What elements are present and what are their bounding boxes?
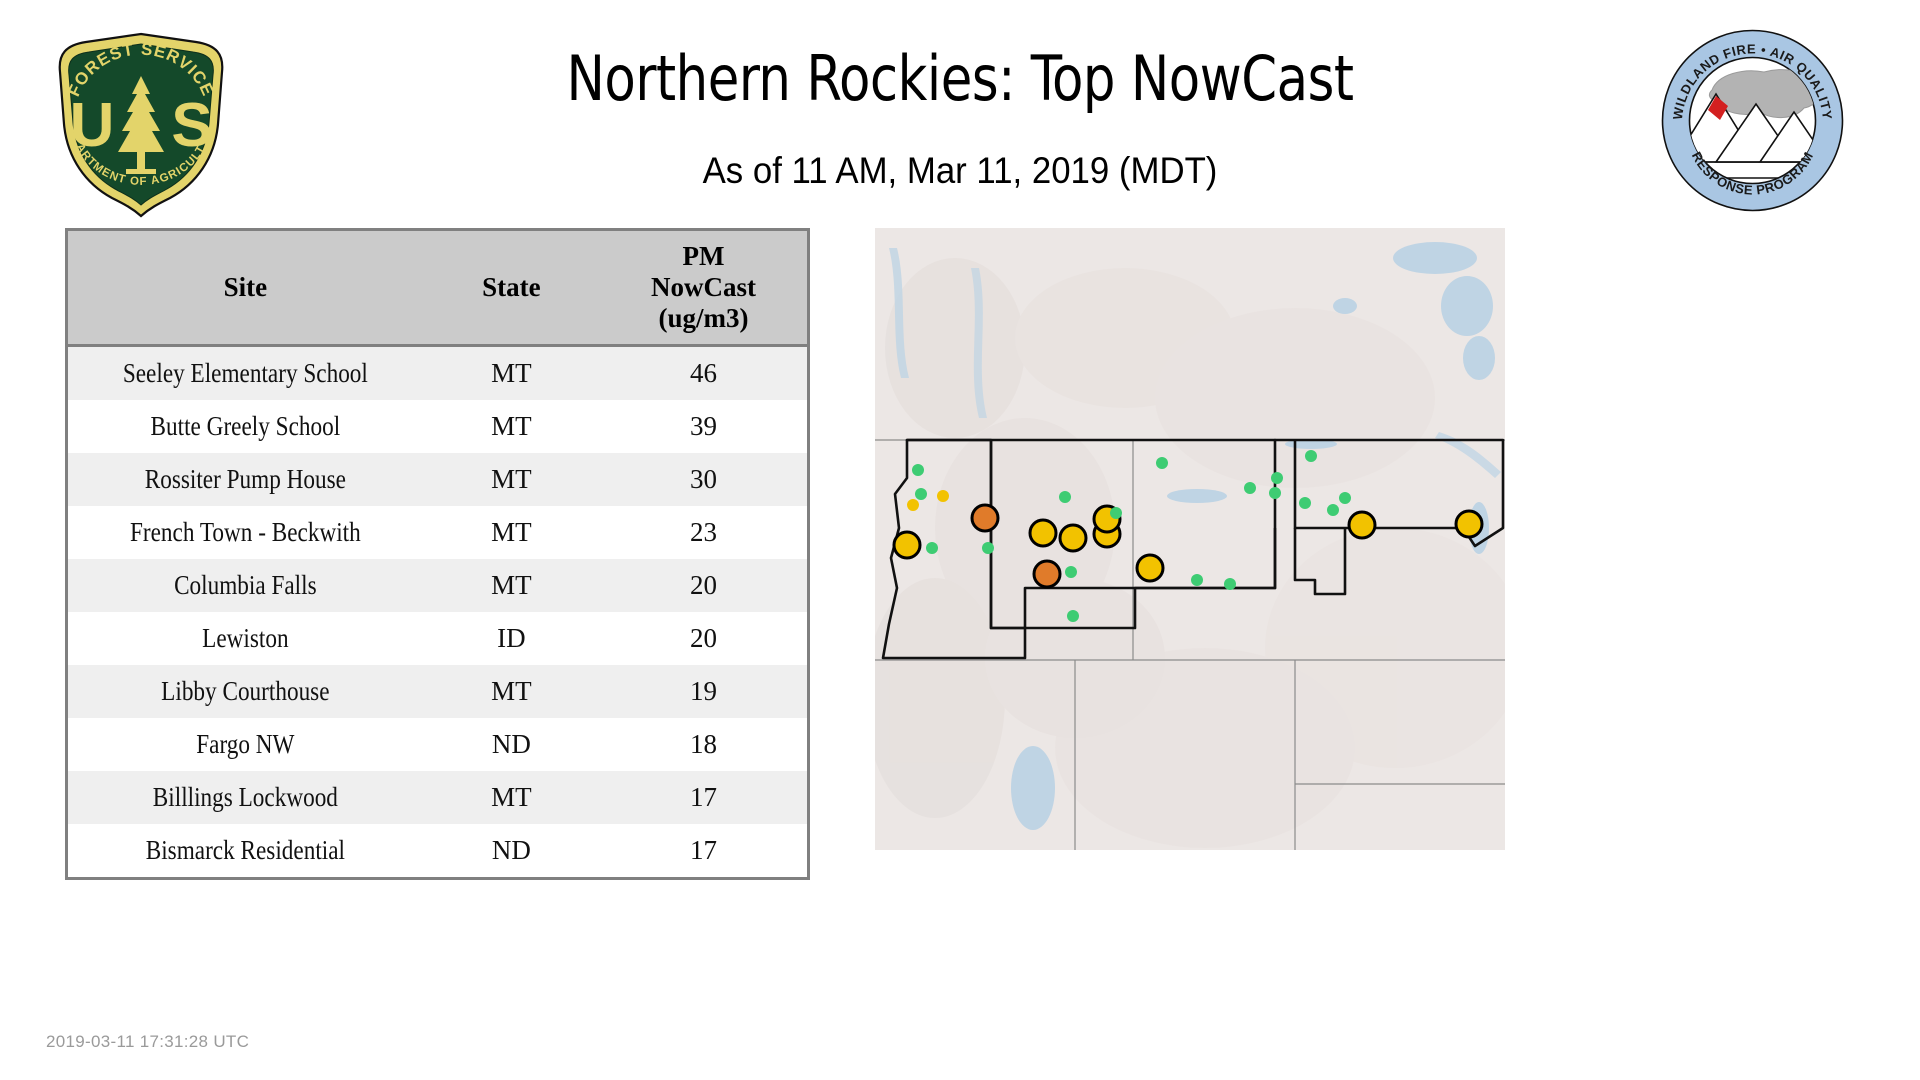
- state-cell: ND: [423, 824, 600, 877]
- map-marker-small[interactable]: [937, 490, 949, 502]
- table-row: Butte Greely SchoolMT39: [68, 400, 807, 453]
- pm-value-cell: 46: [600, 346, 807, 401]
- site-cell: Rossiter Pump House: [93, 453, 398, 506]
- map-marker-small[interactable]: [1299, 497, 1311, 509]
- pm-value-cell: 17: [600, 824, 807, 877]
- generation-timestamp: 2019-03-11 17:31:28 UTC: [46, 1032, 249, 1052]
- nowcast-table: Site State PM NowCast (ug/m3) Seeley Ele…: [68, 231, 807, 877]
- map-marker-large[interactable]: [894, 532, 920, 558]
- page-title: Northern Rockies: Top NowCast: [344, 44, 1577, 114]
- site-cell: Billlings Lockwood: [93, 771, 398, 824]
- state-cell: MT: [423, 559, 600, 612]
- pm-value-cell: 20: [600, 612, 807, 665]
- map-marker-large[interactable]: [1060, 525, 1086, 551]
- map-marker-small[interactable]: [1224, 578, 1236, 590]
- pm-value-cell: 23: [600, 506, 807, 559]
- nowcast-table-container: Site State PM NowCast (ug/m3) Seeley Ele…: [65, 228, 810, 880]
- table-row: Libby CourthouseMT19: [68, 665, 807, 718]
- map-marker-large[interactable]: [1030, 520, 1056, 546]
- table-head: Site State PM NowCast (ug/m3): [68, 231, 807, 346]
- pm-value-cell: 18: [600, 718, 807, 771]
- table-row: Seeley Elementary SchoolMT46: [68, 346, 807, 401]
- state-cell: MT: [423, 506, 600, 559]
- state-cell: MT: [423, 665, 600, 718]
- table-row: Rossiter Pump HouseMT30: [68, 453, 807, 506]
- map-marker-small[interactable]: [926, 542, 938, 554]
- site-cell: Fargo NW: [93, 718, 398, 771]
- map-marker-small[interactable]: [1065, 566, 1077, 578]
- map-marker-small[interactable]: [1110, 507, 1122, 519]
- map-marker-small[interactable]: [982, 542, 994, 554]
- map-marker-small[interactable]: [1067, 610, 1079, 622]
- state-cell: MT: [423, 346, 600, 401]
- site-cell: French Town - Beckwith: [93, 506, 398, 559]
- table-row: Billlings LockwoodMT17: [68, 771, 807, 824]
- pm-header-line-3: (ug/m3): [604, 303, 803, 334]
- map-marker-small[interactable]: [915, 488, 927, 500]
- site-cell: Columbia Falls: [93, 559, 398, 612]
- table-row: LewistonID20: [68, 612, 807, 665]
- column-header-pm-nowcast: PM NowCast (ug/m3): [600, 231, 807, 346]
- table-row: French Town - BeckwithMT23: [68, 506, 807, 559]
- state-cell: MT: [423, 400, 600, 453]
- page-subtitle: As of 11 AM, Mar 11, 2019 (MDT): [330, 148, 1590, 194]
- table-row: Fargo NWND18: [68, 718, 807, 771]
- table-header-row: Site State PM NowCast (ug/m3): [68, 231, 807, 346]
- state-cell: MT: [423, 771, 600, 824]
- table-row: Bismarck ResidentialND17: [68, 824, 807, 877]
- state-cell: MT: [423, 453, 600, 506]
- pm-header-line-2: NowCast: [604, 272, 803, 303]
- map-marker-large[interactable]: [972, 505, 998, 531]
- site-cell: Bismarck Residential: [93, 824, 398, 877]
- pm-value-cell: 20: [600, 559, 807, 612]
- map-marker-small[interactable]: [1269, 487, 1281, 499]
- pm-header-line-1: PM: [604, 241, 803, 272]
- column-header-state: State: [423, 231, 600, 346]
- site-cell: Lewiston: [93, 612, 398, 665]
- pm-value-cell: 17: [600, 771, 807, 824]
- map-marker-small[interactable]: [1191, 574, 1203, 586]
- state-cell: ND: [423, 718, 600, 771]
- pm-value-cell: 39: [600, 400, 807, 453]
- map-marker-large[interactable]: [1137, 555, 1163, 581]
- wfaqrp-logo: WILDLAND FIRE • AIR QUALITY RESPONSE PRO…: [1660, 28, 1845, 213]
- map-marker-small[interactable]: [1059, 491, 1071, 503]
- map-marker-large[interactable]: [1034, 561, 1060, 587]
- table-body: Seeley Elementary SchoolMT46Butte Greely…: [68, 346, 807, 878]
- map-marker-small[interactable]: [1305, 450, 1317, 462]
- site-cell: Libby Courthouse: [93, 665, 398, 718]
- site-cell: Seeley Elementary School: [93, 346, 398, 401]
- forest-service-logo: FOREST SERVICE U S DEPARTMENT OF AGRICUL…: [46, 28, 236, 218]
- column-header-site: Site: [68, 231, 423, 346]
- map-panel[interactable]: [875, 228, 1505, 850]
- map-marker-small[interactable]: [912, 464, 924, 476]
- map-marker-small[interactable]: [1244, 482, 1256, 494]
- map-marker-small[interactable]: [907, 499, 919, 511]
- pm-value-cell: 19: [600, 665, 807, 718]
- map-marker-small[interactable]: [1271, 472, 1283, 484]
- site-cell: Butte Greely School: [93, 400, 398, 453]
- state-cell: ID: [423, 612, 600, 665]
- map-marker-small[interactable]: [1156, 457, 1168, 469]
- map-marker-large[interactable]: [1456, 511, 1482, 537]
- map-marker-large[interactable]: [1349, 512, 1375, 538]
- pm-value-cell: 30: [600, 453, 807, 506]
- map-marker-small[interactable]: [1339, 492, 1351, 504]
- map-marker-small[interactable]: [1327, 504, 1339, 516]
- table-row: Columbia FallsMT20: [68, 559, 807, 612]
